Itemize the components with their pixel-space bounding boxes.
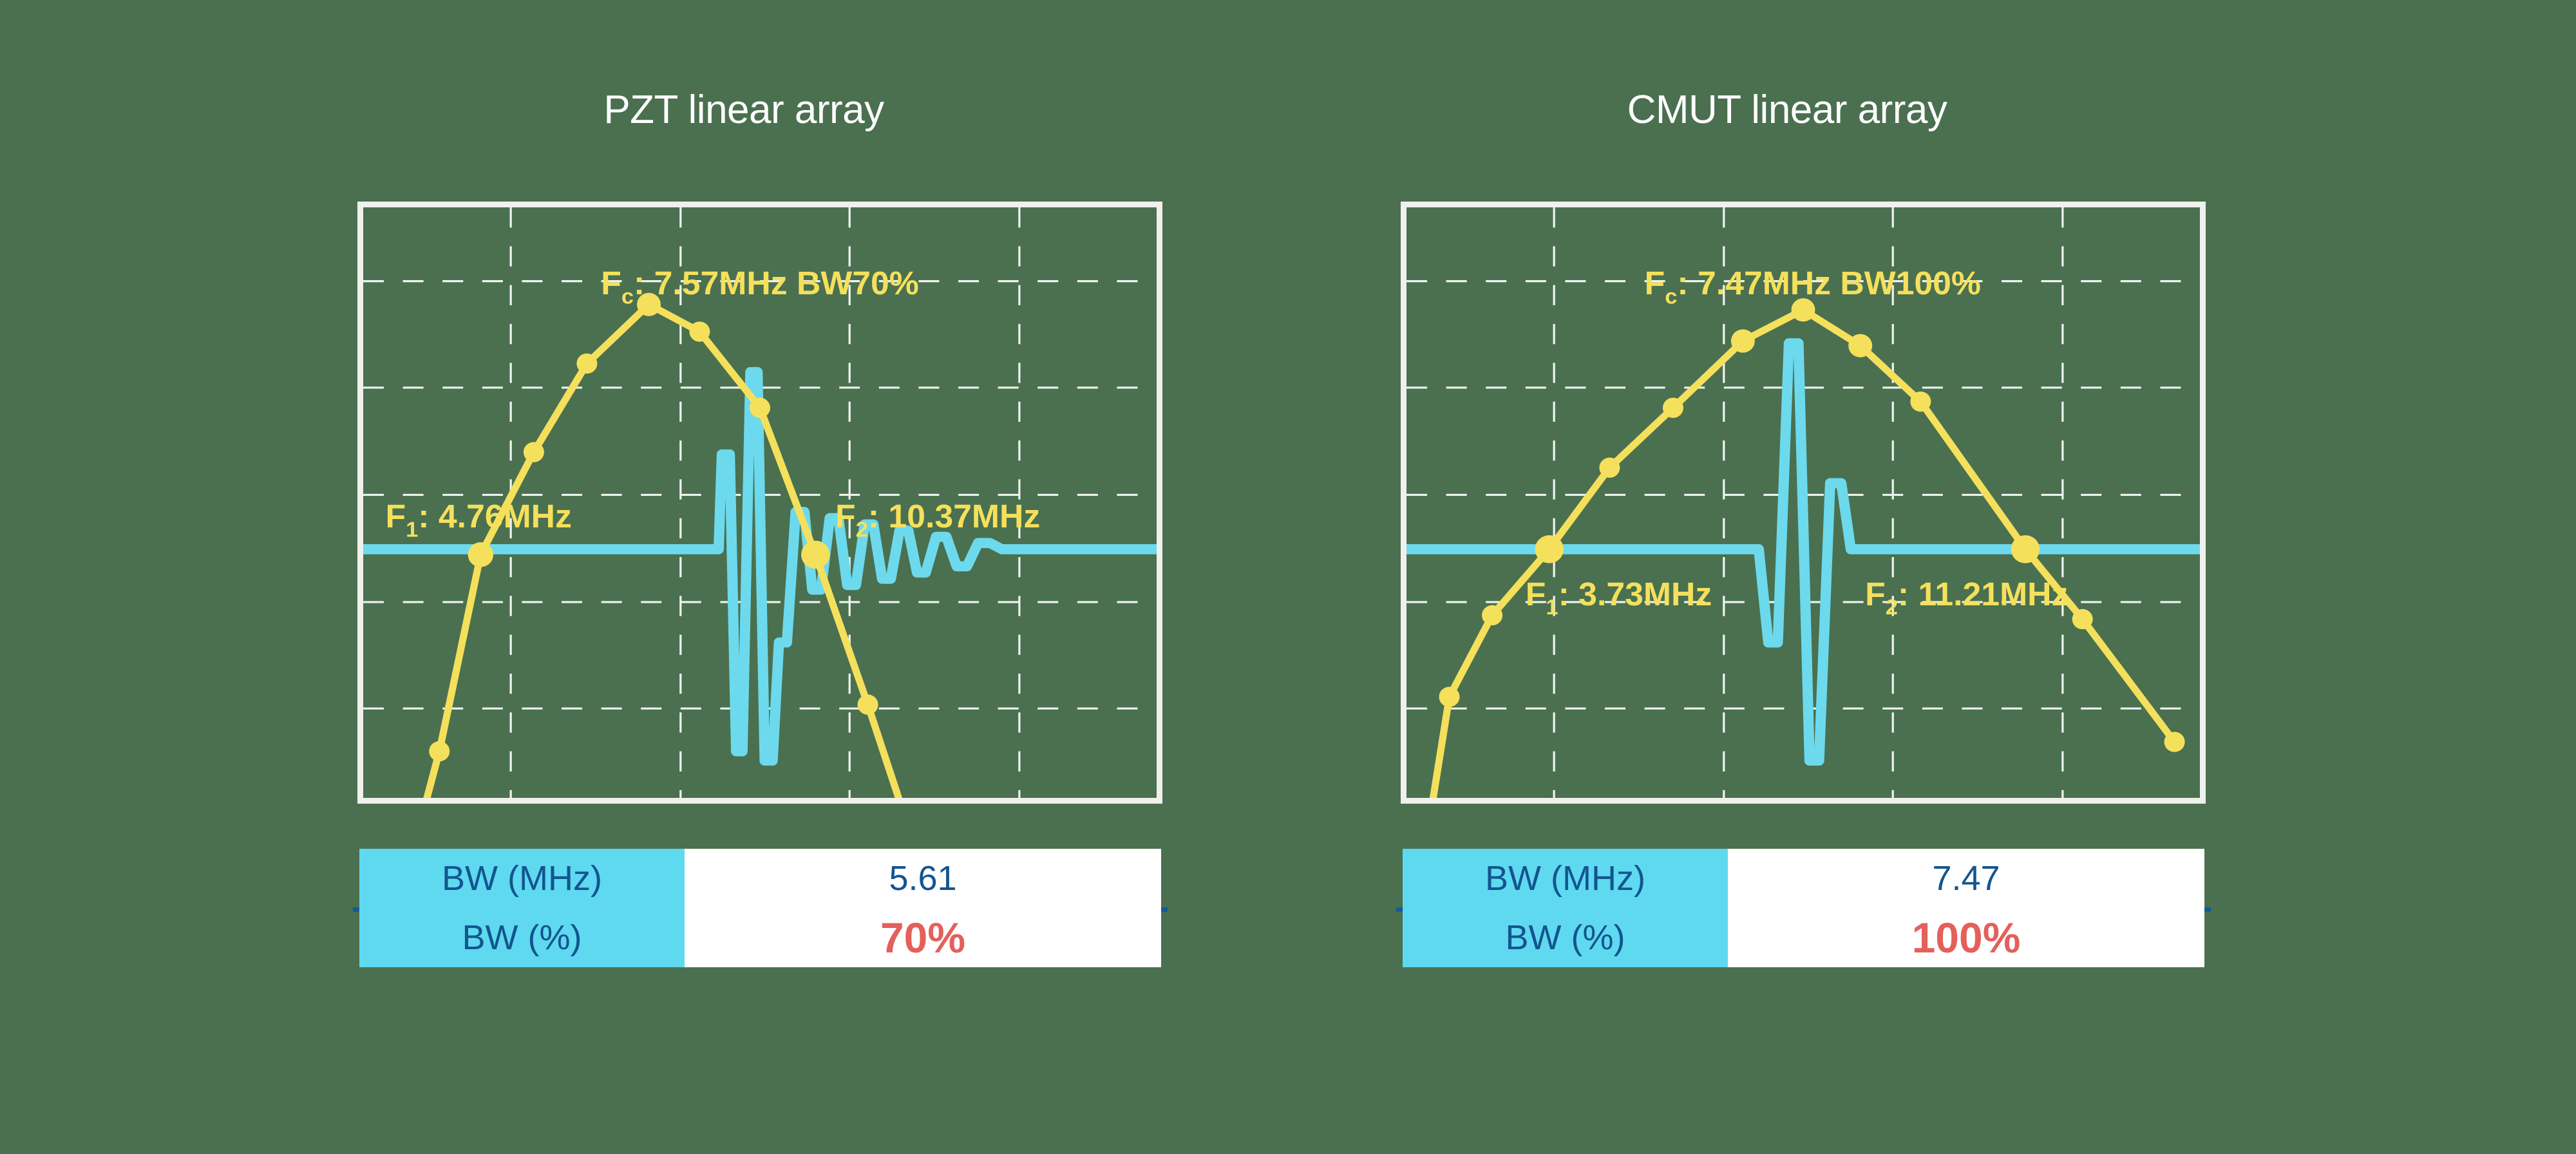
svg-text:Fc: 7.47MHz BW100%: Fc: 7.47MHz BW100% — [1645, 265, 1981, 309]
plot-frame-pzt: Fc: 7.57MHz BW70% F1: 4.76MHz F2: 10.37M… — [357, 202, 1162, 804]
f2-label-pzt: F — [835, 498, 856, 534]
bw-table-cmut: BW (MHz) 7.47 BW (%) 100% — [1403, 849, 2204, 967]
panel-cmut: CMUT linear array — [1365, 0, 2576, 1154]
bw-pct-label-cmut: BW (%) — [1403, 908, 1728, 967]
chart-pzt: Fc: 7.57MHz BW70% F1: 4.76MHz F2: 10.37M… — [363, 207, 1157, 798]
infographic-stage: PZT linear array — [0, 0, 2576, 1154]
svg-text:F1: 4.76MHz: F1: 4.76MHz — [385, 498, 571, 542]
svg-text:F1: 3.73MHz: F1: 3.73MHz — [1526, 576, 1712, 620]
f2-label-cmut: F — [1865, 576, 1886, 612]
bw-mhz-label-cmut: BW (MHz) — [1403, 849, 1728, 908]
bw-pct-label-pzt: BW (%) — [359, 908, 685, 967]
bw-pct-value-pzt: 70% — [685, 908, 1161, 967]
f2-value-cmut: : 11.21MHz — [1898, 576, 2069, 612]
page-title-cmut: CMUT linear array — [1365, 90, 2209, 130]
f1-value-cmut: : 3.73MHz — [1558, 576, 1712, 612]
fc-label-pzt: F — [601, 265, 621, 301]
svg-text:F2: 11.21MHz: F2: 11.21MHz — [1865, 576, 2068, 620]
f1-label-pzt: F — [385, 498, 406, 534]
table-row: BW (%) 70% — [359, 908, 1161, 967]
table-row: BW (MHz) 5.61 — [359, 849, 1161, 908]
bw-mhz-value-cmut: 7.47 — [1728, 849, 2204, 908]
panel-pzt: PZT linear array — [322, 0, 1546, 1154]
annotations-pzt: Fc: 7.57MHz BW70% F1: 4.76MHz F2: 10.37M… — [385, 265, 1040, 542]
chart-cmut: Fc: 7.47MHz BW100% F1: 3.73MHz F2: 11.21… — [1406, 207, 2200, 798]
plot-frame-cmut: Fc: 7.47MHz BW100% F1: 3.73MHz F2: 11.21… — [1401, 202, 2206, 804]
fc-value-pzt: : 7.57MHz BW70% — [634, 265, 919, 301]
f1-value-pzt: : 4.76MHz — [418, 498, 572, 534]
bw-pct-value-cmut: 100% — [1728, 908, 2204, 967]
page-title-pzt: PZT linear array — [322, 90, 1166, 130]
table-row: BW (MHz) 7.47 — [1403, 849, 2204, 908]
f2-value-pzt: : 10.37MHz — [868, 498, 1040, 534]
fc-label-cmut: F — [1645, 265, 1665, 301]
bw-mhz-value-pzt: 5.61 — [685, 849, 1161, 908]
f1-label-cmut: F — [1526, 576, 1546, 612]
impulse-response-cmut — [1406, 343, 2200, 761]
fc-value-cmut: : 7.47MHz BW100% — [1677, 265, 1980, 301]
table-row: BW (%) 100% — [1403, 908, 2204, 967]
bw-mhz-label-pzt: BW (MHz) — [359, 849, 685, 908]
bw-table-pzt: BW (MHz) 5.61 BW (%) 70% — [359, 849, 1161, 967]
